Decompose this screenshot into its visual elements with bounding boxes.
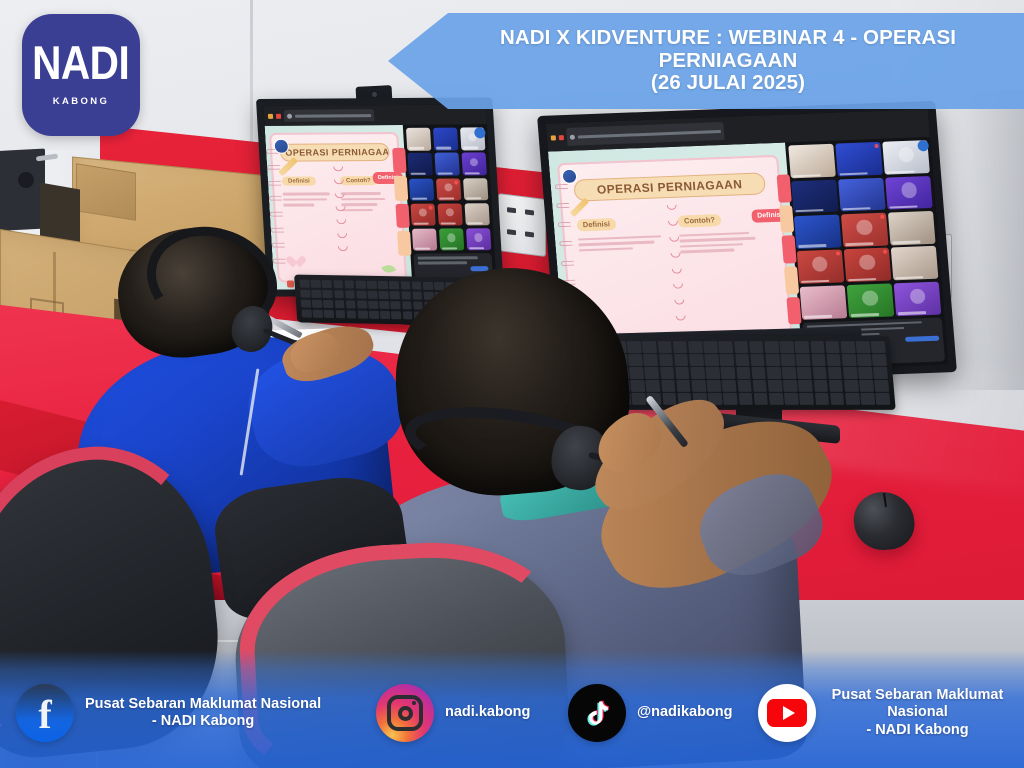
chip-definisi: Definisi [576, 218, 616, 231]
video-tile[interactable] [838, 177, 885, 212]
youtube-icon[interactable] [758, 684, 816, 742]
slide-left: OPERASI PERNIAGAAN Definisi Contoh? [269, 132, 407, 283]
video-tile[interactable] [439, 228, 465, 251]
text-line [680, 249, 734, 254]
text-line [341, 203, 377, 206]
chip-definisi: Definisi [282, 177, 316, 186]
meeting-view-left: OPERASI PERNIAGAAN Definisi Contoh? [265, 125, 497, 290]
video-tile[interactable] [885, 176, 932, 211]
video-tile[interactable] [894, 281, 941, 316]
slide-title-left: OPERASI PERNIAGAAN [280, 143, 391, 162]
slide-column-example: Contoh? [677, 208, 775, 316]
nadi-logo-badge: NADI KABONG [22, 14, 140, 136]
video-tile[interactable] [888, 211, 935, 246]
video-tile[interactable] [410, 203, 436, 226]
video-tile[interactable] [436, 178, 462, 201]
text-line [342, 209, 373, 212]
browser-tab[interactable] [566, 122, 724, 145]
text-line [341, 197, 385, 200]
monitor-left: OPERASI PERNIAGAAN Definisi Contoh? [256, 97, 504, 296]
video-tile[interactable] [788, 144, 835, 179]
video-tile[interactable] [841, 213, 888, 248]
social-instagram[interactable]: nadi.kabong [376, 684, 568, 742]
poster-canvas: EPSON N [0, 0, 1024, 768]
text-line [680, 237, 757, 242]
browser-dot-2 [276, 113, 281, 118]
presentation-share-left: OPERASI PERNIAGAAN Definisi Contoh? [265, 125, 413, 289]
video-tile[interactable] [791, 179, 838, 214]
tab-title-placeholder [578, 130, 721, 138]
video-tile[interactable] [407, 153, 433, 176]
toolbar-icon[interactable] [287, 280, 294, 287]
video-tile[interactable] [797, 250, 844, 285]
video-tile[interactable] [799, 285, 846, 320]
youtube-handle: Pusat Sebaran Maklumat Nasional - NADI K… [827, 687, 1008, 739]
text-line [680, 243, 743, 248]
leaf-icon [382, 263, 397, 275]
slide-column-definition: Definisi [281, 169, 337, 249]
social-facebook[interactable]: f Pusat Sebaran Maklumat Nasional - NADI… [16, 684, 376, 742]
chip-contoh: Contoh? [340, 176, 377, 185]
text-line [578, 235, 661, 241]
video-tile[interactable] [891, 246, 938, 281]
tab-favicon-icon [287, 113, 292, 118]
text-line [283, 192, 330, 195]
video-tile[interactable] [464, 203, 490, 226]
video-tile[interactable] [466, 228, 492, 251]
slide-logo-badge [561, 168, 577, 184]
facebook-icon[interactable]: f [16, 684, 74, 742]
chip-contoh: Contoh? [678, 214, 722, 228]
box-flap [76, 163, 136, 221]
video-tile[interactable] [463, 178, 489, 201]
video-tile[interactable] [461, 153, 487, 176]
tiktok-glyph [580, 696, 614, 730]
video-tile[interactable] [409, 178, 435, 201]
wall-shadow [950, 90, 1024, 390]
browser-dot [551, 135, 556, 140]
video-tile[interactable] [433, 128, 459, 151]
video-tile[interactable] [844, 248, 891, 283]
video-tile[interactable] [434, 153, 460, 176]
facebook-f-glyph: f [38, 695, 51, 735]
chat-send-button[interactable] [905, 335, 939, 341]
instagram-handle: nadi.kabong [445, 704, 530, 721]
video-tile[interactable] [437, 203, 463, 226]
heart-icon [285, 257, 300, 271]
tiktok-handle: @nadikabong [637, 704, 733, 721]
browser-dot [268, 113, 273, 118]
instagram-glyph [387, 695, 423, 731]
browser-dot-2 [559, 135, 564, 140]
slide-title-right: OPERASI PERNIAGAAN [573, 172, 766, 201]
video-tile[interactable] [406, 128, 432, 151]
video-tile[interactable] [835, 142, 882, 177]
tab-favicon-icon [570, 134, 575, 139]
chat-line [417, 257, 478, 260]
video-tiles-left [406, 128, 492, 252]
video-tiles-right [788, 140, 941, 319]
cabinet-knob [18, 172, 34, 188]
tab-title-placeholder [295, 114, 371, 118]
text-line [341, 192, 381, 195]
title-banner: NADI X KIDVENTURE : WEBINAR 4 - OPERASI … [388, 13, 1024, 109]
video-tile[interactable] [794, 214, 841, 249]
nadi-logo-text: NADI [32, 39, 129, 87]
social-youtube[interactable]: Pusat Sebaran Maklumat Nasional - NADI K… [758, 684, 1008, 742]
text-line [679, 232, 749, 237]
text-line [579, 247, 633, 252]
video-tile[interactable] [412, 228, 438, 251]
power-socket-left [498, 193, 546, 257]
tiktok-icon[interactable] [568, 684, 626, 742]
banner-title-text: NADI X KIDVENTURE : WEBINAR 4 - OPERASI … [500, 27, 956, 96]
text-line [283, 203, 314, 206]
facebook-handle: Pusat Sebaran Maklumat Nasional - NADI K… [85, 696, 321, 731]
youtube-play-glyph [767, 699, 807, 727]
text-line [578, 241, 655, 246]
browser-tab[interactable] [284, 109, 375, 122]
webcam-lens-icon [372, 92, 377, 97]
nadi-logo-location: KABONG [53, 96, 110, 106]
social-tiktok[interactable]: @nadikabong [568, 684, 758, 742]
monitor-left-screen: OPERASI PERNIAGAAN Definisi Contoh? [263, 104, 496, 289]
social-footer: f Pusat Sebaran Maklumat Nasional - NADI… [0, 650, 1024, 768]
instagram-icon[interactable] [376, 684, 434, 742]
participant-grid-left [402, 125, 496, 289]
video-tile[interactable] [847, 283, 894, 318]
chat-line [418, 262, 467, 265]
text-line [283, 198, 327, 201]
